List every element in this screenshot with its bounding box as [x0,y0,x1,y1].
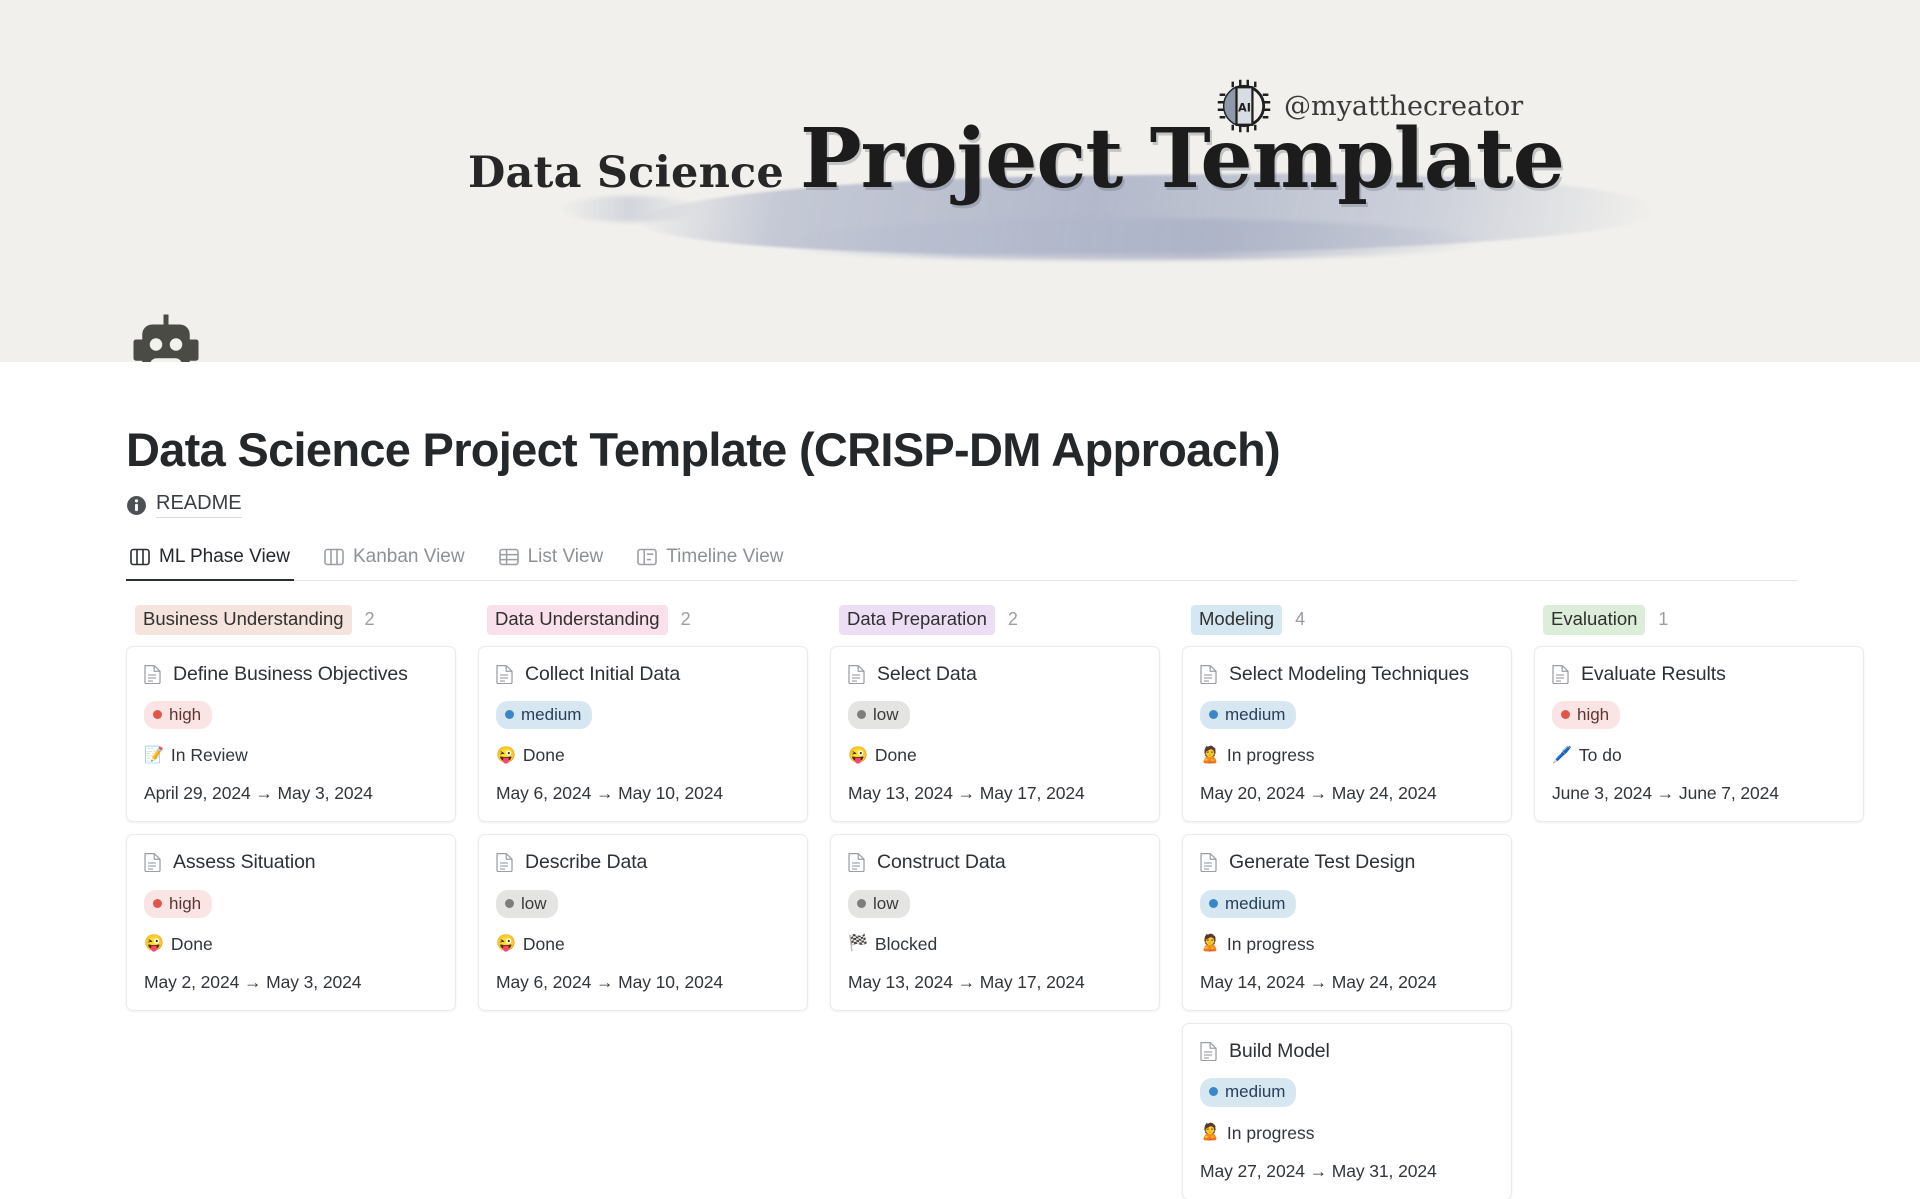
document-icon [848,852,865,872]
card-title: Define Business Objectives [173,663,408,685]
document-icon [1200,852,1217,872]
cover-banner: Data Science Project Template AI @myatth… [0,0,1920,362]
card-title-row: Collect Initial Data [496,663,790,685]
status-emoji-icon: 🙎 [1200,936,1220,952]
task-card[interactable]: Evaluate Resultshigh🖊️To doJune 3, 2024 … [1534,646,1864,823]
priority-dot-icon [505,710,514,719]
card-title-row: Construct Data [848,851,1142,873]
priority-label: medium [521,704,581,725]
board-column: Evaluation1Evaluate Resultshigh🖊️To doJu… [1534,605,1864,834]
date-range: May 14, 2024 → May 24, 2024 [1200,972,1494,993]
card-title-row: Build Model [1200,1040,1494,1062]
column-name-chip: Data Preparation [839,605,995,635]
svg-text:AI: AI [1238,102,1251,115]
card-title-row: Select Modeling Techniques [1200,663,1494,685]
card-title-row: Evaluate Results [1552,663,1846,685]
task-card[interactable]: Select Modeling Techniquesmedium🙎In prog… [1182,646,1512,823]
info-icon [126,495,147,516]
status-emoji-icon: 😜 [496,748,516,764]
priority-dot-icon [1209,710,1218,719]
card-title: Build Model [1229,1040,1330,1062]
column-header[interactable]: Modeling4 [1182,605,1512,635]
board-columns-icon [324,548,344,566]
task-card[interactable]: Select Datalow😜DoneMay 13, 2024 → May 17… [830,646,1160,823]
status-row: 😜Done [496,745,790,766]
priority-label: medium [1225,893,1285,914]
status-label: In progress [1227,745,1315,766]
column-header[interactable]: Data Understanding2 [478,605,808,635]
status-label: In Review [171,745,248,766]
column-card-count: 2 [681,609,691,630]
status-label: In progress [1227,934,1315,955]
tab-label: ML Phase View [159,546,290,568]
column-card-count: 2 [365,609,375,630]
document-icon [496,852,513,872]
priority-dot-icon [857,899,866,908]
status-emoji-icon: 🙎 [1200,1125,1220,1141]
status-label: Blocked [875,934,937,955]
card-title: Select Modeling Techniques [1229,663,1469,685]
tab-timeline-view[interactable]: Timeline View [633,540,787,580]
priority-label: low [521,893,547,914]
status-emoji-icon: 📝 [144,748,164,764]
status-label: Done [523,745,565,766]
column-header[interactable]: Evaluation1 [1534,605,1864,635]
task-card[interactable]: Collect Initial Datamedium😜DoneMay 6, 20… [478,646,808,823]
cover-script-title: Data Science [468,148,784,198]
status-emoji-icon: 😜 [496,936,516,952]
status-row: 🖊️To do [1552,745,1846,766]
board-columns-icon [130,548,150,566]
priority-badge: medium [1200,1078,1296,1106]
status-label: To do [1579,745,1622,766]
card-title: Construct Data [877,851,1006,873]
card-title-row: Assess Situation [144,851,438,873]
task-card[interactable]: Assess Situationhigh😜DoneMay 2, 2024 → M… [126,834,456,1011]
document-icon [144,664,161,684]
priority-badge: low [848,701,910,729]
priority-badge: medium [1200,701,1296,729]
status-emoji-icon: 🏁 [848,936,868,952]
column-name-chip: Business Understanding [135,605,352,635]
card-title: Collect Initial Data [525,663,680,685]
date-range: April 29, 2024 → May 3, 2024 [144,783,438,804]
card-title: Generate Test Design [1229,851,1415,873]
status-row: 😜Done [496,934,790,955]
task-card[interactable]: Generate Test Designmedium🙎In progressMa… [1182,834,1512,1011]
card-title-row: Generate Test Design [1200,851,1494,873]
table-grid-icon [499,548,519,566]
robot-icon[interactable] [126,312,206,362]
column-name-chip: Data Understanding [487,605,668,635]
readme-label: README [156,492,242,518]
column-name-chip: Evaluation [1543,605,1645,635]
status-row: 🏁Blocked [848,934,1142,955]
status-label: In progress [1227,1123,1315,1144]
status-row: 😜Done [144,934,438,955]
priority-label: medium [1225,1081,1285,1102]
card-title: Select Data [877,663,977,685]
status-label: Done [875,745,917,766]
task-card[interactable]: Build Modelmedium🙎In progressMay 27, 202… [1182,1023,1512,1199]
priority-dot-icon [1561,710,1570,719]
priority-badge: medium [1200,890,1296,918]
card-title: Evaluate Results [1581,663,1726,685]
status-row: 📝In Review [144,745,438,766]
date-range: May 20, 2024 → May 24, 2024 [1200,783,1494,804]
priority-label: high [169,704,201,725]
priority-label: low [873,704,899,725]
date-range: May 13, 2024 → May 17, 2024 [848,972,1142,993]
date-range: May 27, 2024 → May 31, 2024 [1200,1161,1494,1182]
priority-dot-icon [857,710,866,719]
tab-ml-phase-view[interactable]: ML Phase View [126,540,294,580]
date-range: May 6, 2024 → May 10, 2024 [496,783,790,804]
tab-label: Timeline View [666,546,783,568]
timeline-icon [637,548,657,566]
document-icon [144,852,161,872]
priority-badge: low [496,890,558,918]
task-card[interactable]: Describe Datalow😜DoneMay 6, 2024 → May 1… [478,834,808,1011]
priority-dot-icon [153,899,162,908]
document-icon [1552,664,1569,684]
priority-dot-icon [153,710,162,719]
card-title-row: Describe Data [496,851,790,873]
document-icon [496,664,513,684]
priority-badge: high [1552,701,1620,729]
card-title-row: Select Data [848,663,1142,685]
priority-label: high [169,893,201,914]
page-body: Data Science Project Template (CRISP-DM … [0,422,1920,1199]
date-range: May 6, 2024 → May 10, 2024 [496,972,790,993]
view-tabs: ML Phase View Kanban View [126,540,1798,581]
priority-dot-icon [505,899,514,908]
ai-chip-icon: AI [1214,76,1274,136]
status-row: 🙎In progress [1200,745,1494,766]
task-card[interactable]: Construct Datalow🏁BlockedMay 13, 2024 → … [830,834,1160,1011]
status-emoji-icon: 😜 [848,748,868,764]
board-column: Data Understanding2Collect Initial Datam… [478,605,808,1023]
ml-phase-board: Business Understanding2Define Business O… [126,605,1916,1199]
status-row: 🙎In progress [1200,1123,1494,1144]
tab-label: List View [528,546,604,568]
date-range: May 13, 2024 → May 17, 2024 [848,783,1142,804]
creator-handle: AI @myatthecreator [1214,76,1523,136]
board-column: Data Preparation2Select Datalow😜DoneMay … [830,605,1160,1023]
status-row: 😜Done [848,745,1142,766]
tab-kanban-view[interactable]: Kanban View [320,540,469,580]
column-card-count: 2 [1008,609,1018,630]
status-row: 🙎In progress [1200,934,1494,955]
board-column: Business Understanding2Define Business O… [126,605,456,1023]
tab-list-view[interactable]: List View [495,540,608,580]
status-emoji-icon: 🖊️ [1552,748,1572,764]
priority-badge: medium [496,701,592,729]
status-emoji-icon: 🙎 [1200,748,1220,764]
brush-stroke-decor-3 [560,196,700,222]
priority-badge: high [144,701,212,729]
task-card[interactable]: Define Business Objectiveshigh📝In Review… [126,646,456,823]
card-title: Assess Situation [173,851,316,873]
page-title: Data Science Project Template (CRISP-DM … [126,422,1920,477]
readme-link[interactable]: README [126,492,1920,518]
priority-badge: high [144,890,212,918]
status-label: Done [523,934,565,955]
date-range: May 2, 2024 → May 3, 2024 [144,972,438,993]
priority-dot-icon [1209,1087,1218,1096]
column-card-count: 1 [1658,609,1668,630]
document-icon [848,664,865,684]
board-column: Modeling4Select Modeling Techniquesmediu… [1182,605,1512,1199]
date-range: June 3, 2024 → June 7, 2024 [1552,783,1846,804]
document-icon [1200,664,1217,684]
priority-dot-icon [1209,899,1218,908]
tab-label: Kanban View [353,546,465,568]
priority-badge: low [848,890,910,918]
priority-label: medium [1225,704,1285,725]
column-header[interactable]: Data Preparation2 [830,605,1160,635]
status-emoji-icon: 😜 [144,936,164,952]
column-name-chip: Modeling [1191,605,1282,635]
card-title-row: Define Business Objectives [144,663,438,685]
column-card-count: 4 [1295,609,1305,630]
status-label: Done [171,934,213,955]
priority-label: high [1577,704,1609,725]
card-title: Describe Data [525,851,647,873]
column-header[interactable]: Business Understanding2 [126,605,456,635]
cover-artwork: Data Science Project Template AI @myatth… [0,0,1920,362]
creator-handle-text: @myatthecreator [1284,91,1523,122]
document-icon [1200,1041,1217,1061]
priority-label: low [873,893,899,914]
